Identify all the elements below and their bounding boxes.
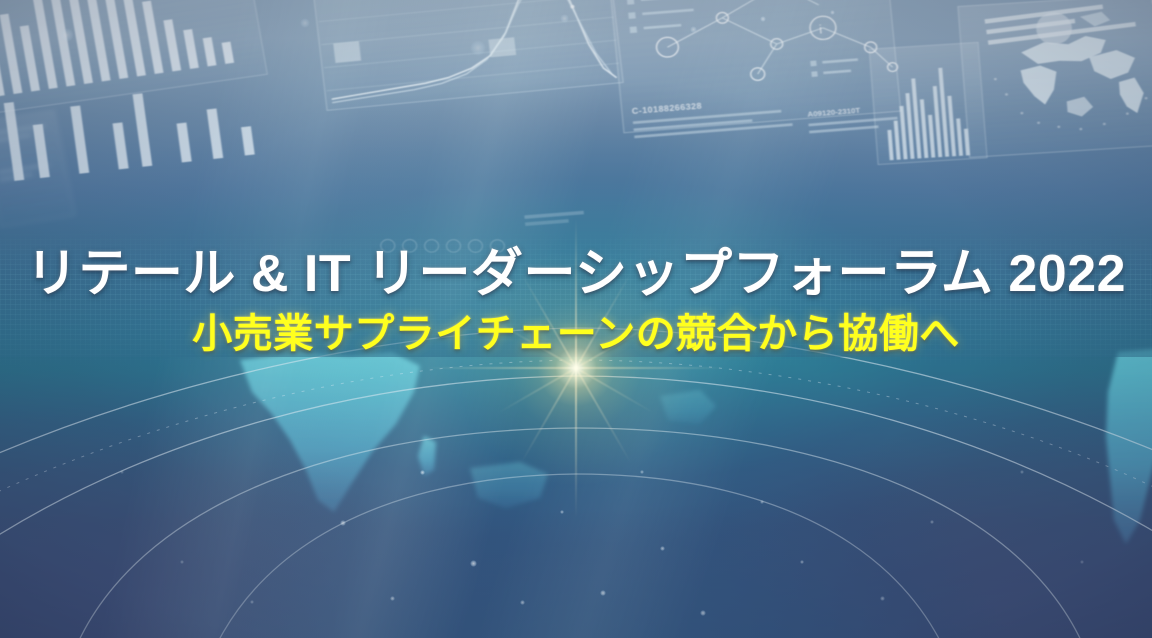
slide-canvas: i C-10188266328 A09120-2310T A xyxy=(0,0,1152,638)
title-block: リテール & IT リーダーシップフォーラム 2022 小売業サプライチェーンの… xyxy=(0,246,1152,356)
main-title: リテール & IT リーダーシップフォーラム 2022 xyxy=(0,246,1152,302)
sub-title: 小売業サプライチェーンの競合から協働へ xyxy=(0,312,1152,356)
